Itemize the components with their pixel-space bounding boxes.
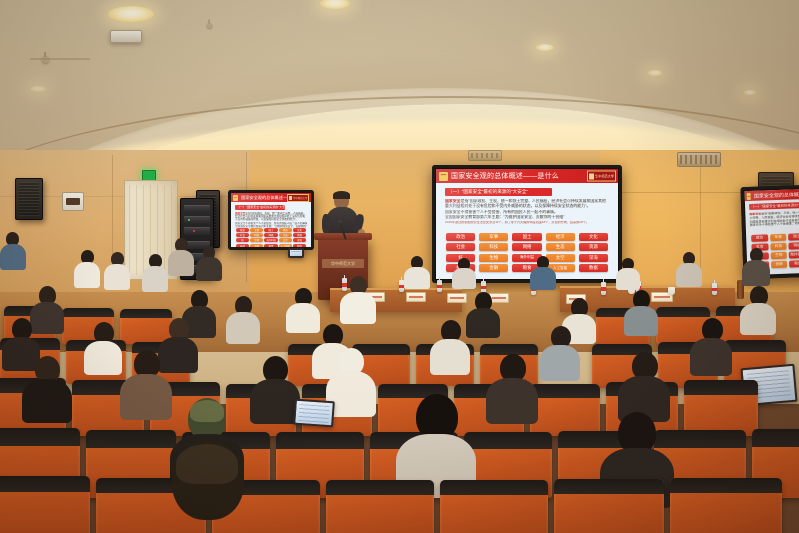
slide-title-text: 国家安全观的总体概述——是什么 <box>451 171 559 181</box>
chip: 粮食 <box>789 260 799 268</box>
slide-title-text: 国家安全观的总体概述——是什么 <box>754 190 799 199</box>
seat[interactable] <box>670 478 782 533</box>
audience-member <box>84 322 122 372</box>
torso <box>742 260 770 286</box>
audience-member <box>624 290 658 334</box>
audience-member <box>530 256 556 289</box>
audience-member <box>676 252 702 286</box>
seat-headrest <box>670 478 782 493</box>
seat[interactable] <box>554 479 664 533</box>
audience-member <box>404 256 430 288</box>
presenter-laptop[interactable] <box>288 248 304 258</box>
audience-member <box>430 320 470 372</box>
water-bottle[interactable] <box>712 283 717 295</box>
seat[interactable] <box>440 480 548 533</box>
rack-unit <box>184 205 210 213</box>
chip: 文化 <box>293 228 306 232</box>
audience-member <box>74 250 100 286</box>
chip: 资源 <box>293 233 306 237</box>
audience-member <box>22 356 72 418</box>
paper-cup <box>668 287 675 295</box>
chip: 生态 <box>279 233 292 237</box>
slide-paragraph: 是指"国家政权、主权、统一和领土完整、人民福祉，经济社会可持续发展和国家其他重大… <box>235 212 306 221</box>
slide-subtitle: （一）"国家安全"最初的来源的"大安全" <box>445 188 552 196</box>
chip: 深海 <box>293 238 306 242</box>
torso <box>22 379 72 423</box>
presenter-arm-left <box>322 214 330 234</box>
chip: 金融 <box>771 261 788 269</box>
podium-nameplate: 华中师范大学 <box>322 259 364 268</box>
seat-headrest <box>724 340 786 352</box>
chip: 政治 <box>446 233 475 241</box>
chip: 金融 <box>250 244 263 247</box>
logo-mark-icon <box>289 196 292 200</box>
seat-headrest <box>326 480 434 495</box>
chip: 生物 <box>250 238 263 242</box>
chip: 海外利益 <box>789 251 799 259</box>
chip: 军事 <box>770 234 787 242</box>
torso <box>676 263 702 287</box>
torso <box>142 266 168 292</box>
chip: 政治 <box>751 234 768 242</box>
wall-control-panel[interactable] <box>62 192 84 211</box>
seat-headrest <box>276 432 364 449</box>
logo-text: 华中师范大学 <box>293 196 307 200</box>
laptop-content <box>291 251 301 256</box>
seat-row-e <box>0 470 799 533</box>
ceiling-projector <box>110 30 142 43</box>
seat-headrest <box>62 308 114 317</box>
slide-bullet: 全国国家安全教育部第六年主题："为维护国家安全、贡献你的十份维" <box>445 215 609 220</box>
chip: 金融 <box>479 264 508 272</box>
seat[interactable] <box>326 480 434 533</box>
logo-text: 华中师范大学 <box>595 174 614 179</box>
slide-title-bar: 一 国家安全观的总体概述——是什么 <box>745 189 799 201</box>
status-led <box>188 219 190 221</box>
ceiling-light-icon <box>744 90 756 95</box>
slide-title-bar: 一 国家安全观的总体概述——是什么 华中师范大学 <box>436 169 618 183</box>
torso <box>340 292 376 324</box>
slide-chip-grid: 政治 军事 国土 经济 文化 社会 科技 网络 生态 资源 核 生物 海外利益 … <box>236 228 306 247</box>
slide-body: 国家安全是指"国家政权、主权、统一和领土完整、人民福祉，经济社会可持续发展和国家… <box>235 212 307 228</box>
chip: 国土 <box>264 228 277 232</box>
chip: 人工智能 <box>279 244 292 247</box>
chip: 深海 <box>579 254 608 262</box>
ceiling-light-icon <box>30 86 46 92</box>
ceiling-light-icon <box>108 6 154 22</box>
seat-headrest <box>530 384 600 398</box>
chip: 军事 <box>479 233 508 241</box>
left-side-display: 一 国家安全观的总体概述——是什么 华中师范大学 （一）"国家安全"最初的来源的… <box>228 190 314 250</box>
audience-member <box>120 350 172 416</box>
slide-section-number: 一 <box>747 192 751 199</box>
audience-member <box>690 318 732 372</box>
university-logo: 华中师范大学 <box>587 171 616 182</box>
torso <box>404 267 430 289</box>
audience-member <box>452 258 476 288</box>
audience-member <box>618 352 670 418</box>
audience-member <box>142 254 168 290</box>
slide-bullet: 国家安全不得损害个人不受侵害、所有的国民人民一起不的事情。 <box>750 222 799 228</box>
chip: 科技 <box>250 233 263 237</box>
lecture-hall-photo: 一 国家安全观的总体概述——是什么 华中师范大学 （一）"国家安全"最初的来源的… <box>0 0 799 533</box>
audience-member <box>616 258 640 289</box>
seat-headrest <box>440 480 548 495</box>
chip: 生物 <box>770 252 787 260</box>
seat-headrest <box>554 479 664 494</box>
audience-member <box>250 356 300 420</box>
slide-footnote: 2015年通过的新国家安全法全文涉及11个，到了现十六大编的年度范围16个，涉及… <box>445 221 609 225</box>
air-vent <box>468 150 502 161</box>
slide-section-number: 一 <box>439 172 448 181</box>
chip: 数据 <box>579 264 608 272</box>
torso <box>452 268 476 289</box>
chip: 军事 <box>250 228 263 232</box>
ceiling-light-icon <box>536 44 554 51</box>
seat-headrest <box>656 307 710 317</box>
logo-mark-icon <box>589 173 594 179</box>
chip: 生态 <box>546 243 575 251</box>
chip: 网络 <box>789 242 799 250</box>
ceiling-conduit <box>30 58 90 60</box>
slide-body: 国家安全是指"国家政权、主权、统一和领土完整、人民福祉，经济社会可持续发展和国家… <box>445 199 609 224</box>
torso <box>120 374 172 420</box>
chip: 海外利益 <box>264 238 277 242</box>
seat-headrest <box>464 432 552 449</box>
seat-headrest <box>0 428 80 446</box>
chip: 核 <box>236 238 249 242</box>
slide-section-number: 一 <box>233 195 238 201</box>
presenter-hair <box>333 191 350 199</box>
hair-highlight <box>190 400 224 422</box>
chip: 社会 <box>446 243 475 251</box>
chip: 国土 <box>512 233 541 241</box>
audience-member <box>196 246 222 280</box>
chip: 粮食 <box>264 244 277 247</box>
sprinkler-icon <box>207 23 213 29</box>
slide-subtitle: （一）"国家安全"最初的来源的"大安全" <box>749 202 799 210</box>
seat-headrest <box>752 429 799 447</box>
chip: 生物 <box>479 254 508 262</box>
slide-body: 国家安全是指"国家政权、主权、统一和领土完整、人民福祉，经济社会可持续发展和国家… <box>749 211 799 228</box>
seat-headrest <box>120 309 172 318</box>
wall-speaker <box>15 178 43 220</box>
torso <box>74 262 100 288</box>
chip: 科技 <box>479 243 508 251</box>
chip: 太空 <box>279 238 292 242</box>
chip: 网络 <box>264 233 277 237</box>
torso <box>530 267 556 290</box>
audience-member <box>740 286 776 334</box>
vent-slats <box>471 153 499 158</box>
chip: 国土 <box>788 233 799 241</box>
torso <box>196 257 222 281</box>
rack-unit <box>184 227 210 235</box>
seat-headrest <box>0 476 90 492</box>
laptop-screen <box>288 248 304 258</box>
audience-member-foreground <box>150 440 270 533</box>
torso <box>168 250 194 276</box>
hair-highlight <box>176 444 238 484</box>
audience-member <box>486 354 538 420</box>
torso <box>104 264 130 290</box>
water-bottle[interactable] <box>601 282 606 295</box>
chip: 网络 <box>512 243 541 251</box>
chip: 文化 <box>579 233 608 241</box>
chip: 经济 <box>279 228 292 232</box>
chip: 经济 <box>546 233 575 241</box>
chip: 社会 <box>236 233 249 237</box>
vent-slats <box>680 155 718 164</box>
chip: 数据 <box>293 244 306 247</box>
torso <box>616 268 640 290</box>
chip: 极地 <box>236 244 249 247</box>
air-vent <box>677 152 721 167</box>
status-led <box>193 230 195 232</box>
slide-subtitle: （一）"国家安全"最初的来源的"大安全" <box>235 205 285 210</box>
audience-member <box>340 276 376 322</box>
chip: 政治 <box>236 228 249 232</box>
seat-headrest <box>684 380 758 395</box>
audience-member <box>168 238 194 274</box>
torso <box>0 244 26 270</box>
left-display-screen: 一 国家安全观的总体概述——是什么 华中师范大学 （一）"国家安全"最初的来源的… <box>231 193 311 247</box>
water-bottle[interactable] <box>437 280 442 292</box>
slide-title-bar: 一 国家安全观的总体概述——是什么 华中师范大学 <box>231 193 311 202</box>
ceiling-light-icon <box>648 70 662 76</box>
audience-member <box>0 232 26 268</box>
audience-member <box>104 252 130 288</box>
audience-member <box>742 248 770 284</box>
seat[interactable] <box>0 476 90 533</box>
chip: 科技 <box>770 243 787 251</box>
slide-paragraph: 是指"国家政权、主权、统一和领土完整、人民福祉，经济社会可持续发展和国家其他重大… <box>445 199 606 208</box>
chip: 资源 <box>579 243 608 251</box>
university-logo: 华中师范大学 <box>287 194 309 202</box>
